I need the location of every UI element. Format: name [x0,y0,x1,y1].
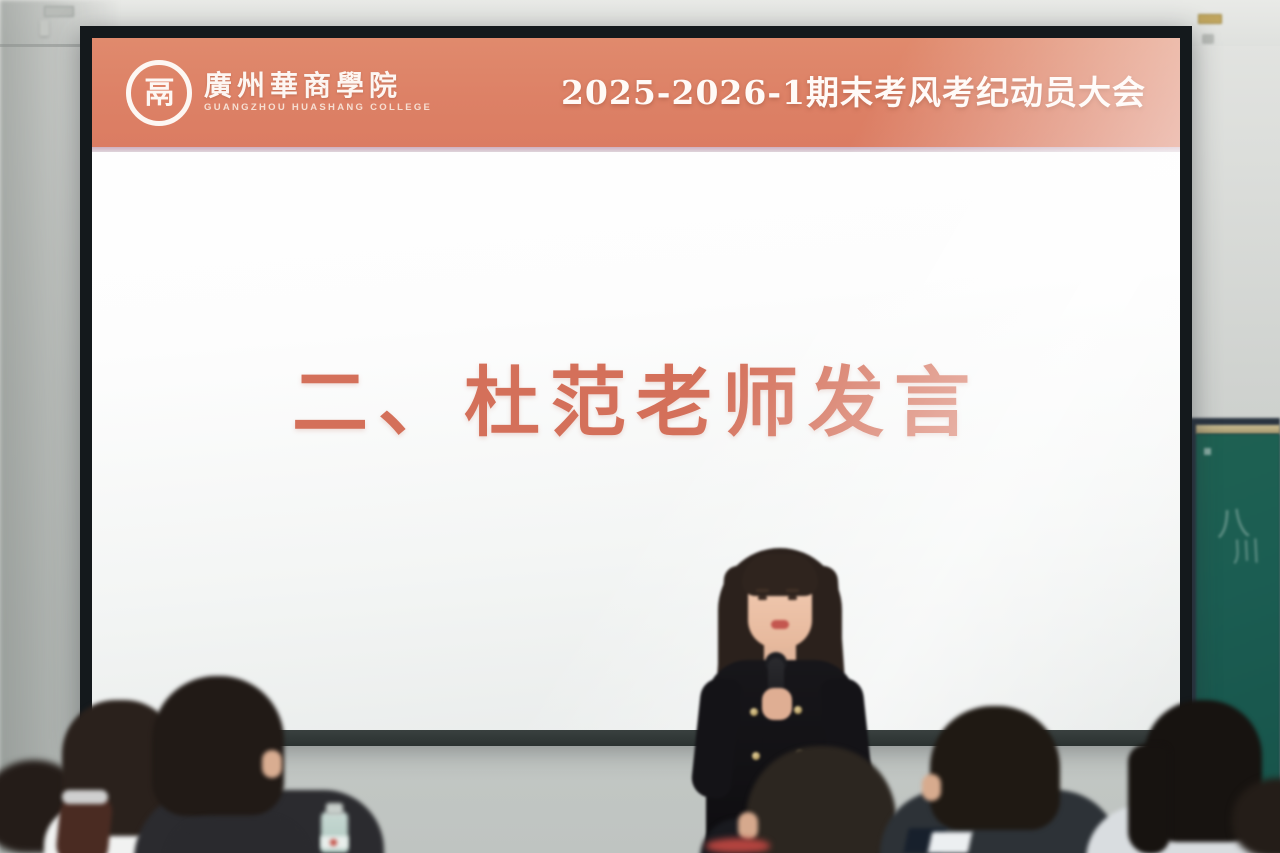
college-logo-text: 廣州華商學院 GUANGZHOU HUASHANG COLLEGE [204,72,432,113]
speaker-hand [762,688,792,720]
speaker-eye-right [788,596,797,600]
audience-head [152,676,284,816]
coat-button [752,752,760,760]
chalk-mark-dot [1204,448,1211,455]
presentation-slide: 鬲 廣州華商學院 GUANGZHOU HUASHANG COLLEGE 2025… [92,38,1180,730]
audience-ear [922,774,941,801]
screen-mount-hook-right [1202,34,1214,44]
speaker-eyebrow-right [786,589,799,592]
audience-head [930,706,1060,830]
college-name-cn: 廣州華商學院 [204,72,432,100]
speaker-eye-left [758,596,767,600]
audience-item-red [706,838,770,853]
audience-long-hair [1128,744,1170,853]
audience-ear [262,750,282,778]
audience-ear [738,812,758,840]
screen-mount-hook-left [40,20,49,36]
slide-header-band: 鬲 廣州華商學院 GUANGZHOU HUASHANG COLLEGE 2025… [92,38,1180,147]
blackboard-top-rail [1196,425,1280,434]
college-name-en: GUANGZHOU HUASHANG COLLEGE [204,103,432,113]
photo-scene: 八 川 鬲 廣州華商學院 GUANGZHOU HUASHANG COLLEGE … [0,0,1280,853]
screen-mount-bracket-left [44,6,74,17]
college-seal-icon: 鬲 [126,60,192,126]
seal-glyph: 鬲 [145,79,174,109]
water-bottle-cap [326,803,343,815]
coat-button [750,708,758,716]
slide-body: 二、杜范老师发言 [92,152,1180,730]
slide-header-title: 2025-2026-1期末考风考纪动员大会 [561,76,1146,109]
chalk-writing-1: 八 [1215,495,1252,546]
speaker-hair-front [742,554,818,596]
speaker-eyebrow-left [756,589,769,592]
water-bottle-logo-icon [330,839,337,846]
speaker-lips [771,620,789,629]
wall-plate-right [1198,14,1222,24]
backpack-strap-light [928,832,972,853]
chalk-writing-2: 川 [1231,529,1261,570]
projection-screen: 鬲 廣州華商學院 GUANGZHOU HUASHANG COLLEGE 2025… [92,38,1180,730]
college-logo: 鬲 廣州華商學院 GUANGZHOU HUASHANG COLLEGE [126,60,432,126]
hair-tie [62,790,108,804]
coat-button [794,706,802,714]
slide-main-title: 二、杜范老师发言 [292,365,980,441]
